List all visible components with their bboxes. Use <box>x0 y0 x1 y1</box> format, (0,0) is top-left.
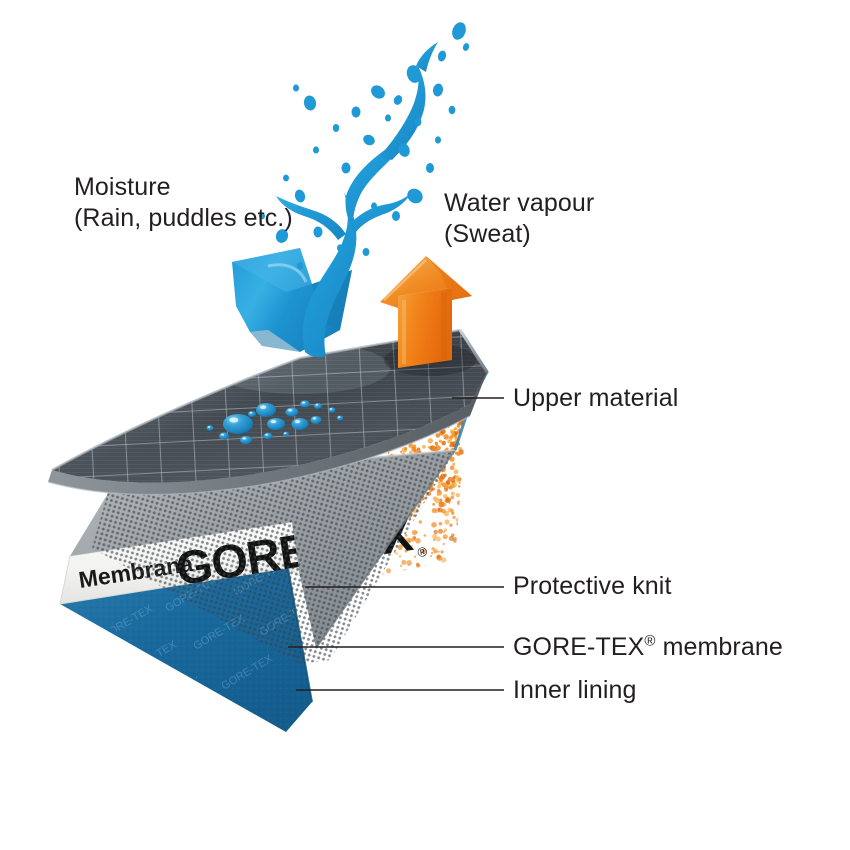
label-goretex-membrane: GORE-TEX® membrane <box>513 632 783 663</box>
label-inner-lining: Inner lining <box>513 675 637 706</box>
svg-text:®: ® <box>416 544 428 560</box>
goretex-layer-diagram: GORE-TEX GORE-TEX GORE-TEX GORE-TEX GORE… <box>0 0 850 850</box>
label-goretex-membrane-brand: GORE-TEX <box>513 633 644 661</box>
diagram-canvas: GORE-TEX GORE-TEX GORE-TEX GORE-TEX GORE… <box>0 0 850 850</box>
annotation-moisture: Moisture (Rain, puddles etc.) <box>74 172 293 233</box>
label-goretex-membrane-suffix: membrane <box>656 633 783 661</box>
label-upper-material: Upper material <box>513 383 678 414</box>
annotation-water-vapour: Water vapour (Sweat) <box>444 188 594 249</box>
registered-mark: ® <box>644 633 655 650</box>
label-protective-knit: Protective knit <box>513 571 672 602</box>
